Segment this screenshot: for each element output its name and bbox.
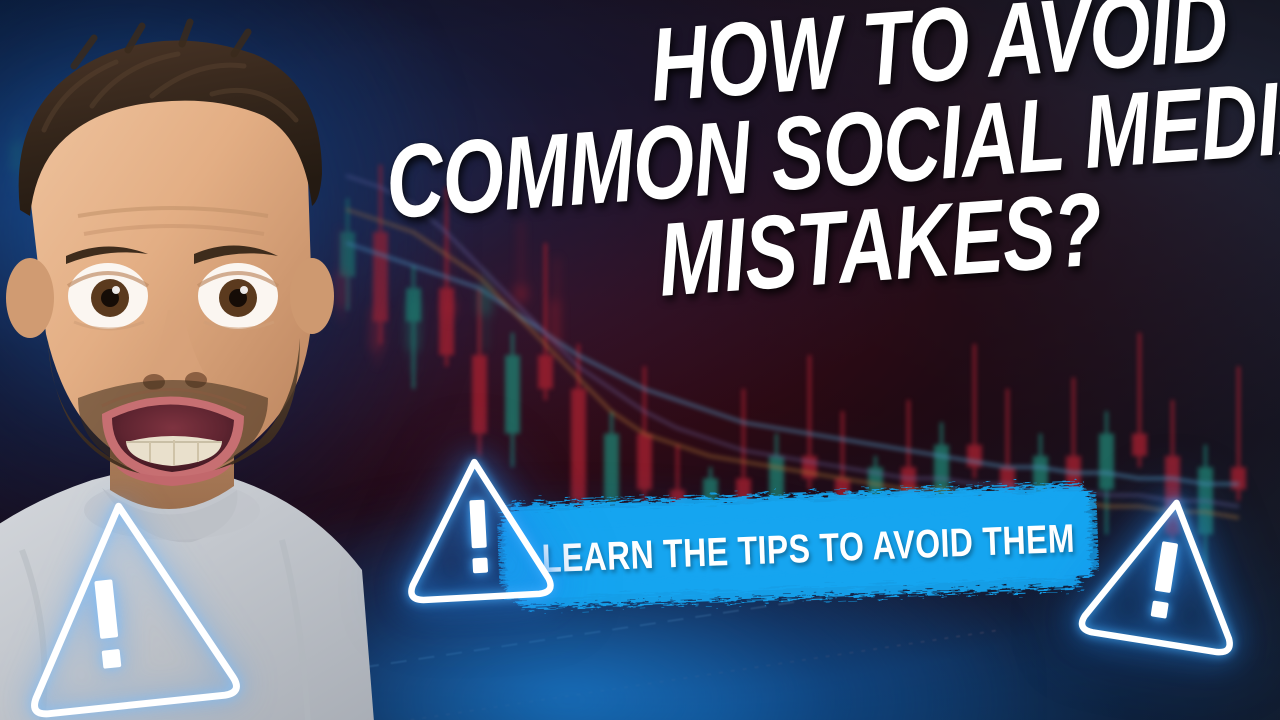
subject-mouth	[102, 396, 244, 486]
thumbnail-canvas: HOW TO AVOID COMMON SOCIAL MEDIA MISTAKE…	[0, 0, 1280, 720]
subtitle-text: LEARN THE TIPS TO AVOID THEM	[541, 516, 1076, 581]
subject-photo	[0, 10, 402, 720]
